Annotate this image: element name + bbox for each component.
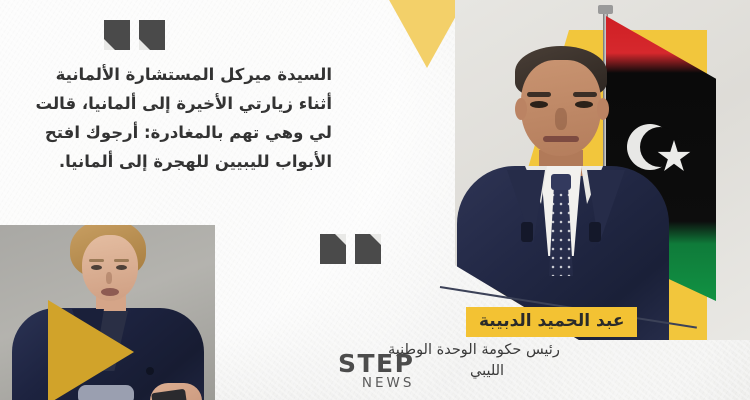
logo-primary-text: STEP — [338, 352, 414, 376]
speaker-name: عبد الحميد الدبيبة — [479, 311, 624, 331]
quote-line-2: أثناء زيارتي الأخيرة إلى ألمانيا، قالت — [16, 89, 332, 118]
yellow-triangle-right — [48, 300, 134, 400]
yellow-triangle-down — [388, 0, 466, 68]
quote-line-3: لي وهي تهم بالمغادرة: أرجوك افتح — [16, 118, 332, 147]
quote-open-icon — [104, 20, 165, 50]
speaker-title: رئيس حكومة الوحدة الوطنية الليبي — [388, 340, 718, 382]
logo-secondary-text: NEWS — [338, 376, 414, 391]
speaker-title-line-2: الليبي — [388, 361, 718, 382]
speaker-name-badge: عبد الحميد الدبيبة — [466, 307, 637, 337]
quote-line-1: السيدة ميركل المستشارة الألمانية — [16, 60, 332, 89]
quote-close-icon — [320, 234, 381, 264]
quote-line-4: الأبواب لليبيين للهجرة إلى ألمانيا. — [16, 147, 332, 176]
abdul-hamid-dbeibah-photo — [455, 0, 750, 340]
quote-text: السيدة ميركل المستشارة الألمانية أثناء ز… — [16, 60, 332, 176]
speaker-title-line-1: رئيس حكومة الوحدة الوطنية — [388, 340, 718, 361]
step-news-logo: STEP NEWS — [338, 352, 414, 391]
news-quote-card: السيدة ميركل المستشارة الألمانية أثناء ز… — [0, 0, 750, 400]
